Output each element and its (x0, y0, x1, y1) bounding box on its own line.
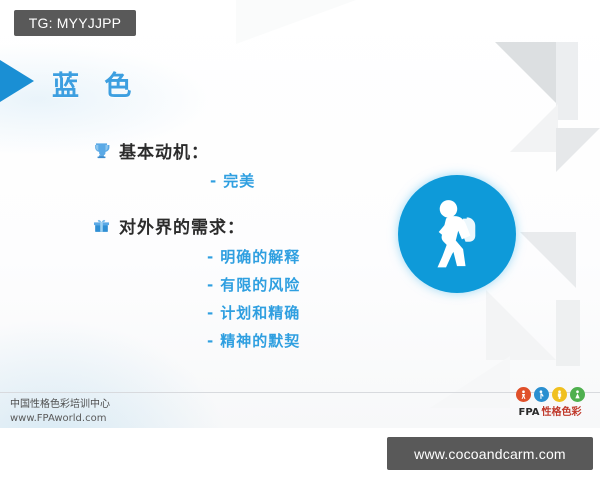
bullet-item-need-2: -计划和精确 (207, 302, 300, 323)
bullet-dash: - (207, 248, 214, 266)
bullet-label: 有限的风险 (220, 276, 300, 294)
slide-canvas: 蓝 色 基本动机： -完美 对外界的需求： -明 (0, 0, 600, 428)
title-arrow-icon (0, 60, 34, 102)
page-title: 蓝 色 (52, 64, 139, 103)
hiker-badge (398, 175, 516, 293)
fpa-logo-dots (508, 387, 592, 402)
fpa-logo: FPA性格色彩 (508, 387, 592, 418)
bullet-item-motivation-0: -完美 (210, 170, 255, 191)
fpa-dot-yellow (552, 387, 567, 402)
section-heading-needs: 对外界的需求： (92, 213, 245, 238)
bullet-dash: - (207, 332, 214, 350)
bullet-label: 明确的解释 (220, 248, 300, 266)
footer-url: www.FPAworld.com (10, 412, 110, 426)
fpa-logo-abbr: FPA (519, 407, 540, 418)
fpa-dot-red (516, 387, 531, 402)
trophy-icon (92, 141, 111, 160)
fpa-logo-cn: 性格色彩 (541, 407, 581, 418)
section-heading-text: 基本动机： (119, 138, 209, 163)
bullet-item-need-0: -明确的解释 (207, 246, 300, 267)
hiker-with-backpack-icon (418, 193, 496, 275)
section-heading-text: 对外界的需求： (119, 213, 245, 238)
bullet-item-need-3: -精神的默契 (207, 330, 300, 351)
footer-credit: 中国性格色彩培训中心 www.FPAworld.com (10, 398, 110, 426)
bullet-dash: - (207, 304, 214, 322)
section-heading-motivation: 基本动机： (92, 138, 209, 163)
footer-org: 中国性格色彩培训中心 (10, 398, 110, 412)
bullet-dash: - (210, 172, 217, 190)
bullet-label: 精神的默契 (220, 332, 300, 350)
telegram-tag-watermark: TG: MYYJJPP (14, 10, 136, 36)
fpa-dot-blue (534, 387, 549, 402)
bullet-label: 完美 (223, 172, 255, 190)
gift-box-icon (92, 216, 111, 235)
fpa-logo-name: FPA性格色彩 (508, 403, 592, 418)
bullet-label: 计划和精确 (220, 304, 300, 322)
bullet-dash: - (207, 276, 214, 294)
bullet-item-need-1: -有限的风险 (207, 274, 300, 295)
fpa-dot-green (570, 387, 585, 402)
site-url-watermark: www.cocoandcarm.com (387, 437, 593, 470)
